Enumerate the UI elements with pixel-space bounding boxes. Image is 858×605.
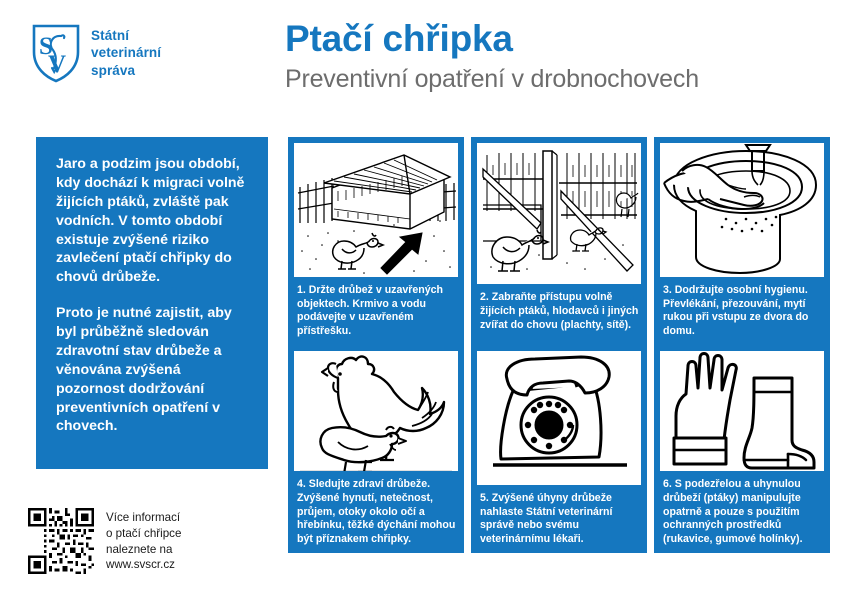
footer-line-3: naleznete na <box>106 542 181 558</box>
qr-code-icon <box>28 508 94 574</box>
fenced-enclosure-chickens-icon <box>477 143 641 284</box>
info-panel: Jaro a podzim jsou období, kdy dochází k… <box>36 137 268 469</box>
prevention-panel-1: 1. Držte drůbež v uzavřených objektech. … <box>288 137 464 345</box>
logo-line-2: veterinární <box>91 44 161 61</box>
panel-caption-5: 5. Zvýšené úhyny drůbeže nahlaste Státní… <box>477 485 641 547</box>
poster-header: S V Státní veterinární správa Ptačí chři… <box>0 0 858 120</box>
organization-name: Státní veterinární správa <box>91 27 161 79</box>
prevention-panel-6: 6. S podezřelou a uhynulou drůbeží (pták… <box>654 345 830 553</box>
rotary-telephone-icon <box>477 351 641 485</box>
handwashing-basin-tap-icon <box>660 143 824 277</box>
logo-line-1: Státní <box>91 27 161 44</box>
prevention-panel-4: 4. Sledujte zdraví drůbeže. Zvýšené hynu… <box>288 345 464 553</box>
info-paragraph-2: Proto je nutné zajistit, aby byl průběžn… <box>56 304 252 436</box>
rooster-and-hen-icon <box>294 351 458 471</box>
footer-line-1: Více informací <box>106 510 181 526</box>
prevention-panel-grid: 1. Držte drůbež v uzavřených objektech. … <box>288 137 830 553</box>
shield-sv-snake-logo-icon: S V <box>30 22 82 84</box>
logo-line-3: správa <box>91 62 161 79</box>
page-title: Ptačí chřipka <box>285 20 699 59</box>
poster-root: S V Státní veterinární správa Ptačí chři… <box>0 0 858 605</box>
panel-caption-4: 4. Sledujte zdraví drůbeže. Zvýšené hynu… <box>294 471 458 547</box>
info-paragraph-1: Jaro a podzim jsou období, kdy dochází k… <box>56 155 252 287</box>
prevention-panel-2: 2. Zabraňte přístupu volně žijících pták… <box>471 137 647 345</box>
coop-with-fence-and-chicken-icon <box>294 143 458 277</box>
svg-text:V: V <box>48 51 66 78</box>
page-subtitle: Preventivní opatření v drobnochovech <box>285 65 699 94</box>
title-block: Ptačí chřipka Preventivní opatření v dro… <box>285 20 699 94</box>
panel-caption-6: 6. S podezřelou a uhynulou drůbeží (pták… <box>660 471 824 547</box>
footer-info-text: Více informací o ptačí chřipce naleznete… <box>106 508 181 573</box>
glove-and-rubber-boot-icon <box>660 351 824 471</box>
panel-caption-3: 3. Dodržujte osobní hygienu. Převlékání,… <box>660 277 824 339</box>
prevention-panel-5: 5. Zvýšené úhyny drůbeže nahlaste Státní… <box>471 345 647 553</box>
organization-logo: S V Státní veterinární správa <box>30 22 161 84</box>
footer-website-url[interactable]: www.svscr.cz <box>106 557 181 573</box>
panel-caption-1: 1. Držte drůbež v uzavřených objektech. … <box>294 277 458 339</box>
prevention-panel-3: 3. Dodržujte osobní hygienu. Převlékání,… <box>654 137 830 345</box>
footer-line-2: o ptačí chřipce <box>106 526 181 542</box>
panel-caption-2: 2. Zabraňte přístupu volně žijících pták… <box>477 284 641 332</box>
footer: Více informací o ptačí chřipce naleznete… <box>28 508 181 574</box>
